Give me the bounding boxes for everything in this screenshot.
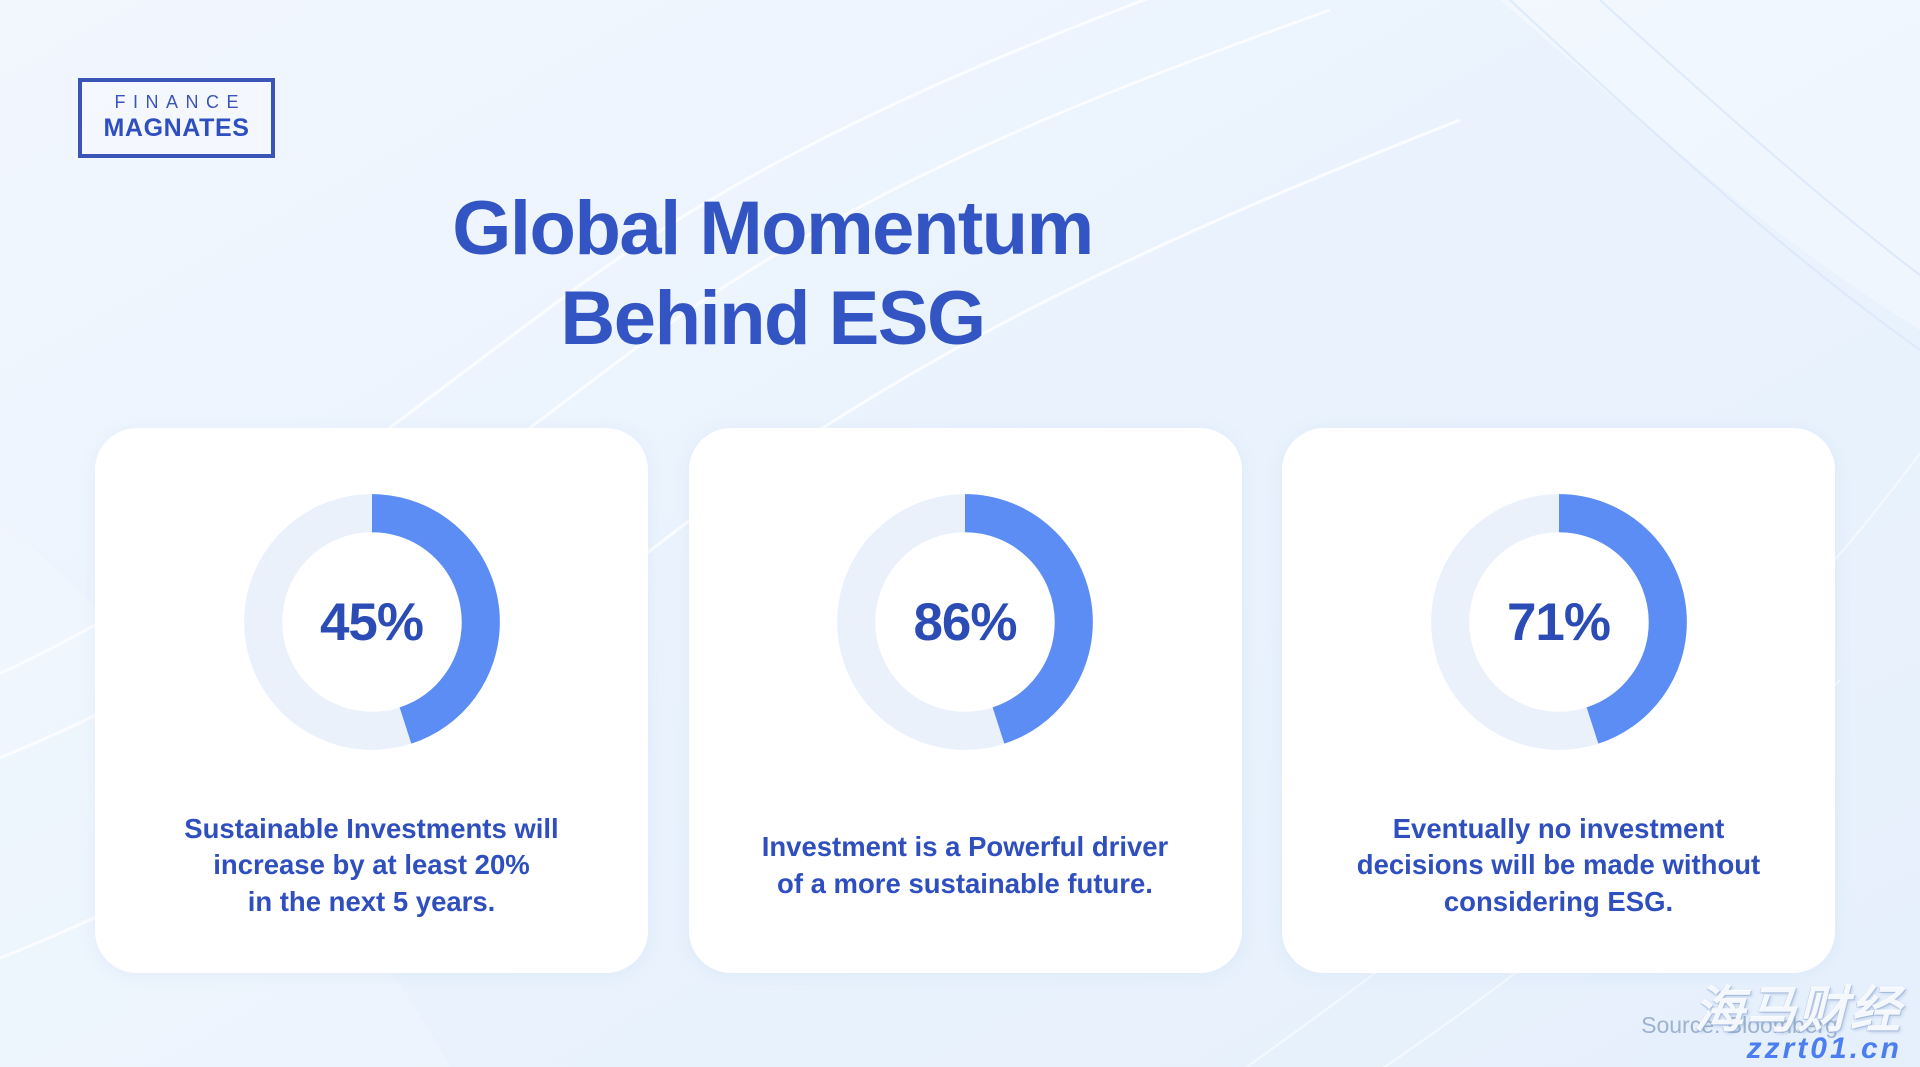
stat-card: 45% Sustainable Investments willincrease… [95, 428, 648, 973]
donut-value-label: 86% [829, 486, 1101, 758]
title-line-2: Behind ESG [0, 281, 1545, 357]
logo-line-finance: FINANCE [107, 93, 246, 113]
stat-caption-text: Sustainable Investments willincrease by … [184, 811, 558, 921]
page-title: Global Momentum Behind ESG [0, 191, 1545, 357]
stat-card: 71% Eventually no investmentdecisions wi… [1282, 428, 1835, 973]
finance-magnates-logo[interactable]: FINANCE MAGNATES [78, 78, 275, 158]
title-line-1: Global Momentum [0, 191, 1545, 267]
donut-chart: 86% [829, 486, 1101, 758]
stat-card-row: 45% Sustainable Investments willincrease… [95, 428, 1835, 973]
source-attribution: Source: Bloomberg [1641, 1012, 1838, 1039]
stat-caption: Eventually no investmentdecisions will b… [1282, 758, 1835, 973]
donut-value-label: 71% [1423, 486, 1695, 758]
donut-chart: 71% [1423, 486, 1695, 758]
stat-caption-text: Investment is a Powerful driverof a more… [762, 829, 1169, 902]
donut-value-label: 45% [236, 486, 508, 758]
stat-caption: Sustainable Investments willincrease by … [95, 758, 648, 973]
stat-caption-text: Eventually no investmentdecisions will b… [1357, 811, 1760, 921]
logo-line-magnates: MAGNATES [104, 115, 250, 143]
donut-chart: 45% [236, 486, 508, 758]
stat-card: 86% Investment is a Powerful driverof a … [689, 428, 1242, 973]
stat-caption: Investment is a Powerful driverof a more… [689, 758, 1242, 973]
